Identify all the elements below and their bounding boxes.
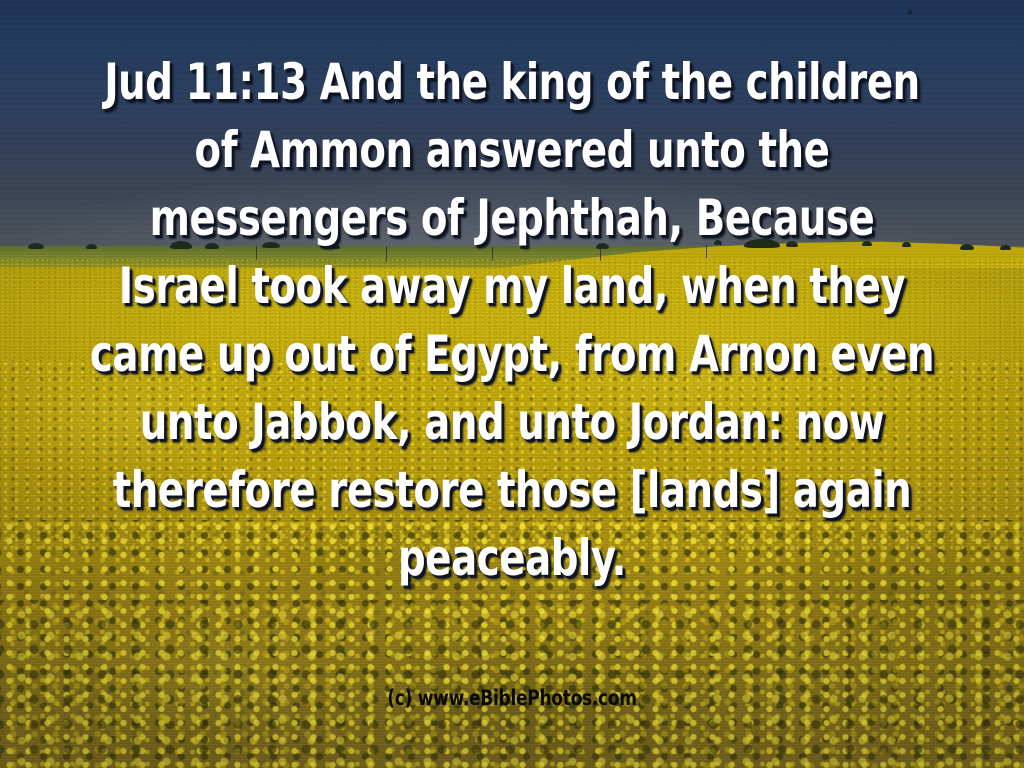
tree-silhouette [28, 243, 44, 249]
bible-verse-text: Jud 11:13 And the king of the children o… [72, 48, 953, 592]
tree-silhouette [1000, 245, 1011, 250]
tree-silhouette [960, 244, 974, 250]
watermark-credit: (c) www.eBiblePhotos.com [51, 686, 973, 710]
scripture-image: Jud 11:13 And the king of the children o… [0, 0, 1024, 768]
